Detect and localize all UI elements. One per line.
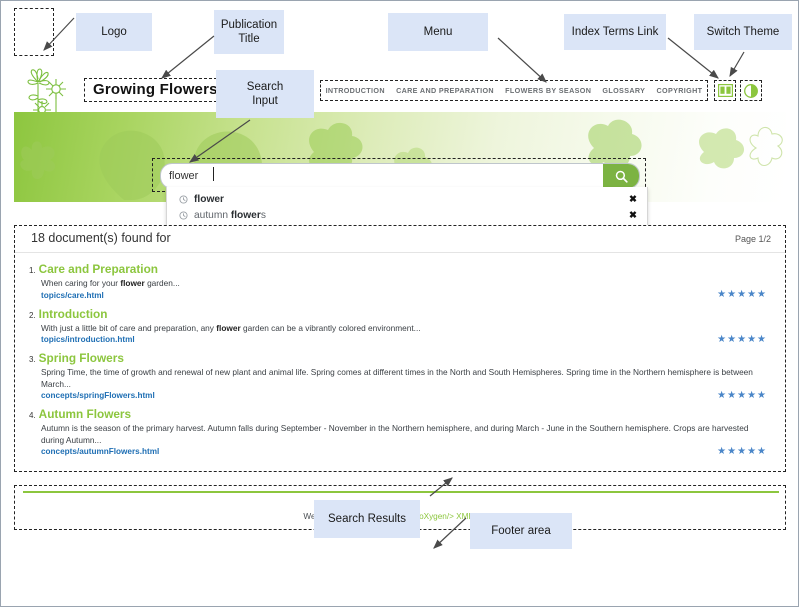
history-clock-icon: [179, 195, 188, 204]
history-clock-icon: [179, 211, 188, 220]
result-rating-stars: ★★★★★: [717, 446, 767, 457]
result-title-link[interactable]: Autumn Flowers: [39, 407, 131, 421]
search-input[interactable]: [161, 164, 603, 188]
result-number: 3.: [29, 355, 36, 364]
result-title[interactable]: 1. Care and Preparation: [29, 262, 771, 276]
callout-search-input: Search Input: [216, 70, 314, 118]
result-desc-post: garden can be a vibrantly colored enviro…: [241, 323, 421, 333]
suggestion-match: flower: [194, 194, 224, 205]
result-rating-stars: ★★★★★: [717, 334, 767, 345]
app-header: Growing Flowers INTRODUCTION CARE AND PR…: [14, 60, 786, 112]
half-circle-contrast-icon: [744, 84, 758, 98]
main-menu[interactable]: INTRODUCTION CARE AND PREPARATION FLOWER…: [320, 80, 708, 101]
result-item[interactable]: 4. Autumn Flowers Autumn is the season o…: [15, 404, 785, 460]
results-count: 18 document(s) found for: [31, 231, 171, 245]
callout-search-results: Search Results: [314, 500, 420, 538]
callout-switch-theme: Switch Theme: [694, 14, 792, 50]
search-box[interactable]: [160, 163, 640, 189]
result-desc-match: flower: [216, 323, 240, 333]
result-desc-pre: When caring for your: [41, 278, 120, 288]
suggestion-match: flower: [231, 210, 261, 221]
result-title-link[interactable]: Spring Flowers: [39, 351, 124, 365]
menu-item-copyright[interactable]: COPYRIGHT: [656, 86, 702, 95]
results-header: 18 document(s) found for Page 1/2: [15, 226, 785, 253]
search-button[interactable]: [603, 164, 639, 188]
suggestion-item[interactable]: autumn flowers ✖: [167, 208, 647, 225]
text-cursor: [213, 167, 214, 181]
result-desc-pre: Spring Time, the time of growth and rene…: [41, 367, 753, 389]
callout-logo: Logo: [76, 13, 152, 51]
webhelp-app: Growing Flowers INTRODUCTION CARE AND PR…: [14, 60, 786, 540]
callout-index-terms-link: Index Terms Link: [564, 14, 666, 50]
result-url[interactable]: topics/care.html: [41, 291, 771, 300]
footer-divider: [23, 491, 779, 493]
result-desc-pre: Autumn is the season of the primary harv…: [41, 423, 748, 445]
callout-menu: Menu: [388, 13, 488, 51]
result-description: Autumn is the season of the primary harv…: [41, 423, 771, 446]
result-desc-post: garden...: [145, 278, 180, 288]
suggestion-item[interactable]: flower ✖: [167, 191, 647, 208]
result-description: With just a little bit of care and prepa…: [41, 323, 771, 335]
result-description: Spring Time, the time of growth and rene…: [41, 367, 771, 390]
result-title[interactable]: 2. Introduction: [29, 307, 771, 321]
suggestion-prefix: autumn: [194, 210, 231, 221]
switch-theme-button[interactable]: [740, 80, 762, 101]
result-rating-stars: ★★★★★: [717, 390, 767, 401]
open-book-icon: [718, 84, 733, 97]
result-title-link[interactable]: Care and Preparation: [39, 262, 158, 276]
result-number: 4.: [29, 411, 36, 420]
menu-item-introduction[interactable]: INTRODUCTION: [326, 86, 385, 95]
menu-item-glossary[interactable]: GLOSSARY: [602, 86, 645, 95]
suggestion-suffix: s: [261, 210, 266, 221]
result-url[interactable]: concepts/springFlowers.html: [41, 391, 771, 400]
result-description: When caring for your flower garden...: [41, 278, 771, 290]
remove-suggestion-button[interactable]: ✖: [623, 194, 637, 205]
menu-item-care-and-preparation[interactable]: CARE AND PREPARATION: [396, 86, 494, 95]
menu-item-flowers-by-season[interactable]: FLOWERS BY SEASON: [505, 86, 591, 95]
callout-footer-area: Footer area: [470, 513, 572, 549]
result-url[interactable]: concepts/autumnFlowers.html: [41, 447, 771, 456]
result-number: 2.: [29, 311, 36, 320]
result-item[interactable]: 1. Care and Preparation When caring for …: [15, 259, 785, 304]
page-indicator: Page 1/2: [735, 234, 771, 244]
index-terms-link[interactable]: [714, 80, 736, 101]
magnifier-icon: [615, 170, 628, 183]
result-desc-pre: With just a little bit of care and prepa…: [41, 323, 216, 333]
result-item[interactable]: 3. Spring Flowers Spring Time, the time …: [15, 348, 785, 404]
result-title[interactable]: 4. Autumn Flowers: [29, 407, 771, 421]
result-number: 1.: [29, 266, 36, 275]
page-title: Growing Flowers: [93, 81, 218, 98]
result-url[interactable]: topics/introduction.html: [41, 335, 771, 344]
result-title[interactable]: 3. Spring Flowers: [29, 351, 771, 365]
logo-highlight-outline: [14, 8, 54, 56]
result-title-link[interactable]: Introduction: [39, 307, 108, 321]
publication-title-outline: Growing Flowers: [84, 78, 227, 102]
callout-publication-title: Publication Title: [214, 10, 284, 54]
result-desc-match: flower: [120, 278, 144, 288]
search-results-panel: 18 document(s) found for Page 1/2 1. Car…: [14, 225, 786, 472]
results-list: 1. Care and Preparation When caring for …: [15, 253, 785, 460]
remove-suggestion-button[interactable]: ✖: [623, 210, 637, 221]
result-item[interactable]: 2. Introduction With just a little bit o…: [15, 304, 785, 349]
result-rating-stars: ★★★★★: [717, 289, 767, 300]
